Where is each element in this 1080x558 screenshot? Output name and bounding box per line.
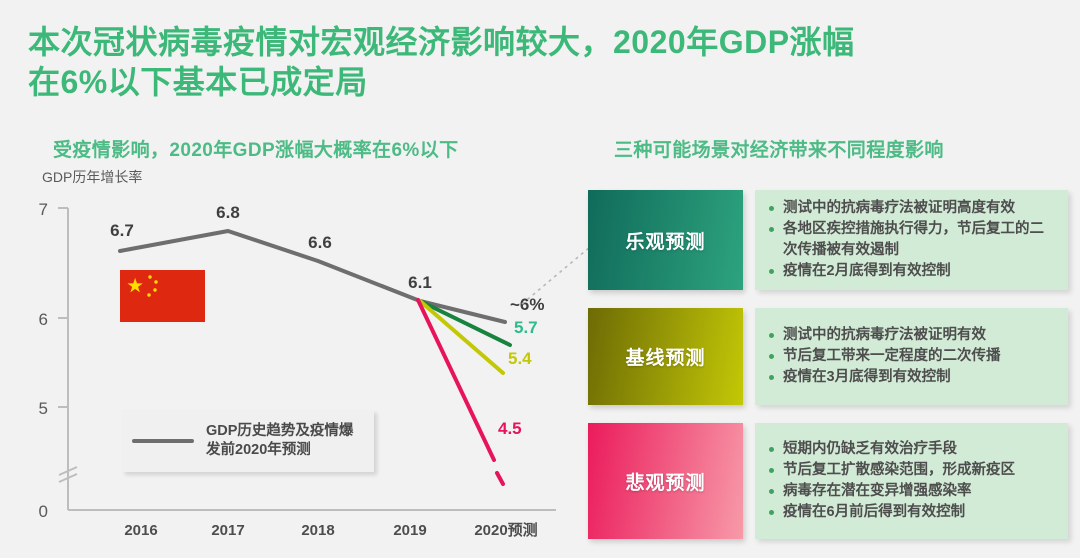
point-label-2016: 6.7 xyxy=(110,221,134,240)
chart-section-subtitle: 受疫情影响，2020年GDP涨幅大概率在6%以下 xyxy=(53,135,459,162)
series-line-pessimistic xyxy=(418,300,494,460)
scenario-label-optimistic: 乐观预测 xyxy=(588,190,743,290)
scenario-section-subtitle: 三种可能场景对经济带来不同程度影响 xyxy=(614,135,944,162)
page-title: 本次冠状病毒疫情对宏观经济影响较大，2020年GDP涨幅 在6%以下基本已成定局 xyxy=(28,22,1058,102)
bullet-text: 病毒存在潜在变异增强感染率 xyxy=(783,481,972,502)
scenario-label-pessimistic: 悲观预测 xyxy=(588,423,743,539)
bullet-dot-icon xyxy=(769,489,774,494)
bullet-dot-icon xyxy=(769,375,774,380)
bullet-dot-icon xyxy=(769,447,774,452)
bullet-dot-icon xyxy=(769,354,774,359)
legend-label-historical: GDP历史趋势及疫情爆发前2020年预测 xyxy=(206,422,364,460)
list-item: 短期内仍缺乏有效治疗手段 xyxy=(765,439,1056,460)
bullet-dot-icon xyxy=(769,206,774,211)
y-tick-label-1: 6 xyxy=(39,310,48,329)
scenario-card-baseline[interactable]: 基线预测 测试中的抗病毒疗法被证明有效 节后复工带来一定程度的二次传播 疫情在3… xyxy=(588,308,1068,405)
china-flag-icon xyxy=(120,270,205,322)
scenario-bullets-pessimistic: 短期内仍缺乏有效治疗手段 节后复工扩散感染范围，形成新疫区 病毒存在潜在变异增强… xyxy=(755,423,1068,539)
end-label-pessimistic: 4.5 xyxy=(498,419,522,438)
list-item: 测试中的抗病毒疗法被证明高度有效 xyxy=(765,198,1056,219)
list-item: 各地区疾控措施执行得力，节后复工的二次传播被有效遏制 xyxy=(765,219,1056,261)
gdp-growth-chart: GDP历年增长率 7 6 5 0 2016 2017 2018 2019 202… xyxy=(0,178,580,558)
page-title-line-2: 在6%以下基本已成定局 xyxy=(28,62,1058,102)
y-tick-label-2: 5 xyxy=(39,399,48,418)
bullet-dot-icon xyxy=(769,333,774,338)
bullet-text: 疫情在6月前后得到有效控制 xyxy=(783,502,965,523)
list-item: 测试中的抗病毒疗法被证明有效 xyxy=(765,325,1056,346)
list-item: 疫情在2月底得到有效控制 xyxy=(765,261,1056,282)
bullet-text: 测试中的抗病毒疗法被证明高度有效 xyxy=(783,198,1015,219)
x-tick-label-4: 2020预测 xyxy=(474,521,537,539)
bullet-text: 疫情在2月底得到有效控制 xyxy=(783,261,951,282)
bullet-dot-icon xyxy=(769,269,774,274)
y-tick-label-0: 7 xyxy=(39,200,48,219)
scenario-label-baseline: 基线预测 xyxy=(588,308,743,405)
x-tick-label-3: 2019 xyxy=(393,522,426,539)
chart-canvas: 7 6 5 0 2016 2017 2018 2019 2020预测 6.7 6… xyxy=(0,178,580,558)
x-tick-label-1: 2017 xyxy=(211,522,244,539)
point-label-2017: 6.8 xyxy=(216,203,240,222)
list-item: 节后复工带来一定程度的二次传播 xyxy=(765,346,1056,367)
x-tick-label-0: 2016 xyxy=(124,522,157,539)
end-label-optimistic: 5.7 xyxy=(514,318,538,337)
bullet-dot-icon xyxy=(769,468,774,473)
bullet-dot-icon xyxy=(769,510,774,515)
y-tick-label-3: 0 xyxy=(39,502,48,521)
point-label-2018: 6.6 xyxy=(308,233,332,252)
series-line-pessimistic-tail xyxy=(497,473,503,484)
scenario-card-pessimistic[interactable]: 悲观预测 短期内仍缺乏有效治疗手段 节后复工扩散感染范围，形成新疫区 病毒存在潜… xyxy=(588,423,1068,539)
bullet-dot-icon xyxy=(769,227,774,232)
scenario-bullets-optimistic: 测试中的抗病毒疗法被证明高度有效 各地区疾控措施执行得力，节后复工的二次传播被有… xyxy=(755,190,1068,290)
point-label-2019: 6.1 xyxy=(408,273,432,292)
list-item: 节后复工扩散感染范围，形成新疫区 xyxy=(765,460,1056,481)
list-item: 疫情在6月前后得到有效控制 xyxy=(765,502,1056,523)
list-item: 疫情在3月底得到有效控制 xyxy=(765,367,1056,388)
chart-legend: GDP历史趋势及疫情爆发前2020年预测 xyxy=(122,410,374,472)
bullet-text: 节后复工扩散感染范围，形成新疫区 xyxy=(783,460,1015,481)
scenario-card-optimistic[interactable]: 乐观预测 测试中的抗病毒疗法被证明高度有效 各地区疾控措施执行得力，节后复工的二… xyxy=(588,190,1068,290)
bullet-text: 节后复工带来一定程度的二次传播 xyxy=(783,346,1001,367)
scenario-bullets-baseline: 测试中的抗病毒疗法被证明有效 节后复工带来一定程度的二次传播 疫情在3月底得到有… xyxy=(755,308,1068,405)
page-title-line-1: 本次冠状病毒疫情对宏观经济影响较大，2020年GDP涨幅 xyxy=(28,24,855,60)
legend-swatch-historical xyxy=(132,439,194,443)
bullet-text: 疫情在3月底得到有效控制 xyxy=(783,367,951,388)
bullet-text: 短期内仍缺乏有效治疗手段 xyxy=(783,439,957,460)
x-tick-label-2: 2018 xyxy=(301,522,334,539)
bullet-text: 各地区疾控措施执行得力，节后复工的二次传播被有效遏制 xyxy=(783,219,1056,261)
bullet-text: 测试中的抗病毒疗法被证明有效 xyxy=(783,325,986,346)
end-label-moderate: 5.4 xyxy=(508,349,532,368)
list-item: 病毒存在潜在变异增强感染率 xyxy=(765,481,1056,502)
